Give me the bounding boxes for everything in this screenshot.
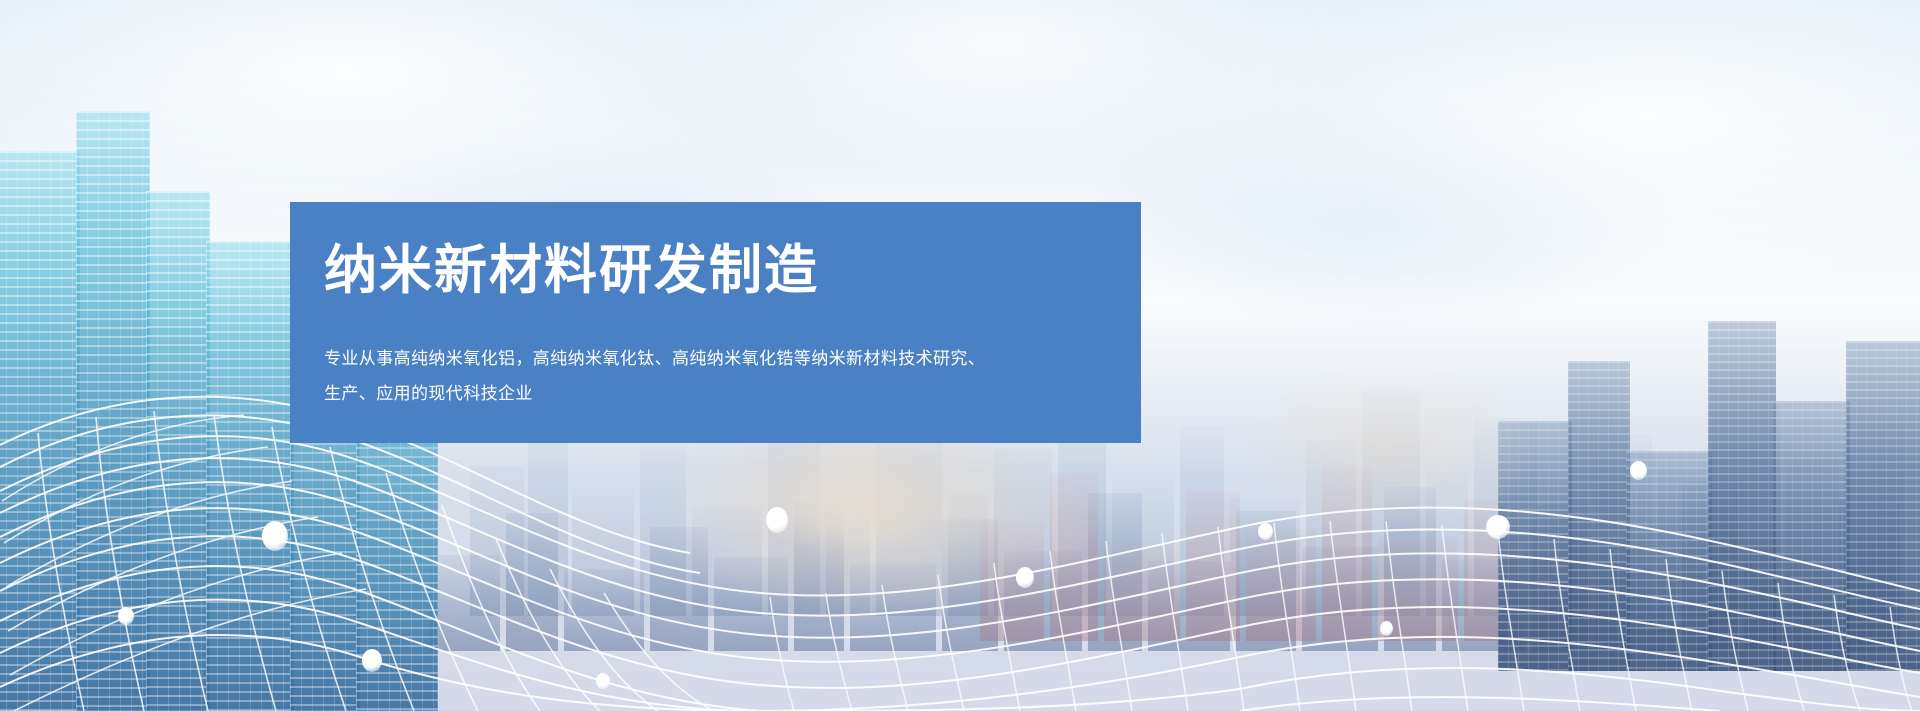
hero-subtitle-line-1: 专业从事高纯纳米氧化铝，高纯纳米氧化钛、高纯纳米氧化锆等纳米新材料技术研究、 — [324, 342, 1097, 377]
hero-text-panel: 纳米新材料研发制造 专业从事高纯纳米氧化铝，高纯纳米氧化钛、高纯纳米氧化锆等纳米… — [290, 202, 1141, 443]
right-dark-towers — [1498, 241, 1920, 671]
hero-subtitle: 专业从事高纯纳米氧化铝，高纯纳米氧化钛、高纯纳米氧化锆等纳米新材料技术研究、 生… — [324, 342, 1097, 412]
page-title: 纳米新材料研发制造 — [324, 242, 1097, 300]
hero-subtitle-line-2: 生产、应用的现代科技企业 — [324, 377, 1097, 412]
hero-banner: 纳米新材料研发制造 专业从事高纯纳米氧化铝，高纯纳米氧化钛、高纯纳米氧化锆等纳米… — [0, 0, 1920, 711]
